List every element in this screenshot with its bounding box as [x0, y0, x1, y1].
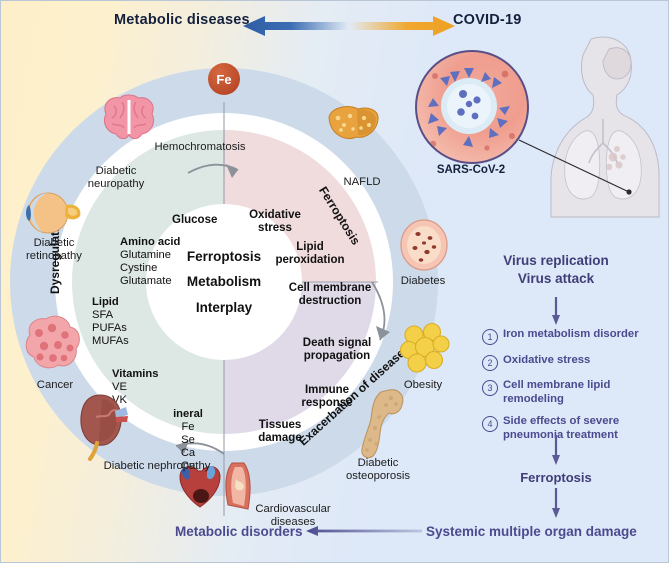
center-line-1: Ferroptosis — [187, 250, 261, 264]
list-item: 4 Side effects of severe pneumonia treat… — [482, 415, 668, 443]
list-item-label: Side effects of severe pneumonia treatme… — [503, 415, 668, 443]
nafld-label: NAFLD — [332, 176, 392, 189]
adipocytes-icon — [398, 321, 452, 375]
list-item-number: 4 — [482, 416, 498, 432]
oxidative-stress-label: Oxidative stress — [236, 209, 314, 236]
diabetic-retinopathy-label: Diabetic retinopathy — [10, 237, 98, 264]
mechanism-list: 1 Iron metabolism disorder 2 Oxidative s… — [482, 328, 668, 451]
cell-membrane-destruction-label: Cell membrane destruction — [284, 282, 376, 309]
list-item: 2 Oxidative stress — [482, 354, 668, 371]
list-item-number: 3 — [482, 380, 498, 396]
lipid-item-1: PUFAs — [92, 322, 127, 334]
diabetic-neuropathy-label: Diabetic neuropathy — [70, 165, 162, 192]
covid19-label: COVID-19 — [453, 12, 521, 28]
sars-cov-2-label: SARS-CoV-2 — [425, 164, 517, 176]
lipid-item-2: MUFAs — [92, 335, 129, 347]
diabetic-osteoporosis-label: Diabetic osteoporosis — [330, 457, 426, 484]
glucose-label: Glucose — [172, 214, 217, 227]
amino-acid-block: Amino acid Glutamine Cystine Glutamate — [120, 236, 180, 288]
list-item-label: Oxidative stress — [503, 354, 590, 368]
virion-to-lung-connector — [517, 126, 647, 206]
tumor-cell-icon — [20, 313, 86, 375]
center-line-3: Interplay — [196, 301, 252, 315]
bone-icon — [355, 386, 407, 462]
death-signal-propagation-label: Death signal propagation — [292, 337, 382, 364]
eye-icon — [20, 189, 82, 237]
mineral-item-1: Se — [181, 434, 195, 446]
mineral-item-0: Fe — [181, 421, 194, 433]
fatty-liver-icon — [324, 101, 382, 147]
bidirectional-arrow-icon — [243, 15, 455, 37]
mineral-item-2: Ca — [181, 447, 195, 459]
list-item-number: 1 — [482, 329, 498, 345]
center-line-2: Metabolism — [187, 275, 261, 289]
lipid-title: Lipid — [92, 296, 119, 308]
brain-icon — [98, 94, 160, 144]
down-arrow-1-icon — [551, 297, 561, 325]
list-item-label: Cell membrane lipid remodeling — [503, 379, 668, 407]
cancer-label: Cancer — [24, 379, 86, 392]
sars-cov-2-illustration — [415, 50, 529, 164]
down-arrow-3-icon — [551, 488, 561, 518]
vitamins-title: Vitamins — [112, 368, 158, 380]
figure-canvas: Metabolic diseases COVID-19 — [0, 0, 669, 563]
virus-replication-block: Virus replication Virus attack — [461, 252, 651, 288]
virion-art — [417, 52, 527, 162]
down-arrow-2-icon — [551, 435, 561, 465]
metabolic-disorders-label: Metabolic disorders — [175, 524, 303, 539]
pancreatic-islet-icon — [398, 218, 450, 272]
kidney-icon — [66, 391, 130, 461]
systemic-multiple-organ-damage-label: Systemic multiple organ damage — [426, 524, 637, 539]
list-item: 1 Iron metabolism disorder — [482, 328, 668, 345]
diabetes-label: Diabetes — [392, 275, 454, 288]
circular-diagram: Ferroptosis Metabolism Interplay Glucose… — [10, 46, 440, 516]
lipid-block: Lipid SFA PUFAs MUFAs — [92, 296, 129, 348]
iron-fe-icon: Fe — [208, 63, 240, 95]
amino-acid-item-2: Glutamate — [120, 275, 172, 287]
ferroptosis-outcome-label: Ferroptosis — [471, 470, 641, 485]
amino-acid-item-0: Glutamine — [120, 249, 171, 261]
mineral-title: ineral — [173, 408, 203, 420]
amino-acid-title: Amino acid — [120, 236, 180, 248]
left-arrow-icon — [306, 525, 422, 537]
amino-acid-item-1: Cystine — [120, 262, 157, 274]
list-item-label: Iron metabolism disorder — [503, 328, 639, 342]
virus-replication-line2: Virus attack — [461, 270, 651, 288]
lipid-peroxidation-label: Lipid peroxidation — [266, 241, 354, 268]
iron-fe-text: Fe — [216, 72, 231, 87]
list-item: 3 Cell membrane lipid remodeling — [482, 379, 668, 407]
diabetic-nephropathy-label: Diabetic nephropathy — [102, 460, 212, 473]
metabolic-diseases-label: Metabolic diseases — [114, 12, 250, 28]
list-item-number: 2 — [482, 355, 498, 371]
lipid-item-0: SFA — [92, 309, 113, 321]
virus-replication-line1: Virus replication — [461, 252, 651, 270]
